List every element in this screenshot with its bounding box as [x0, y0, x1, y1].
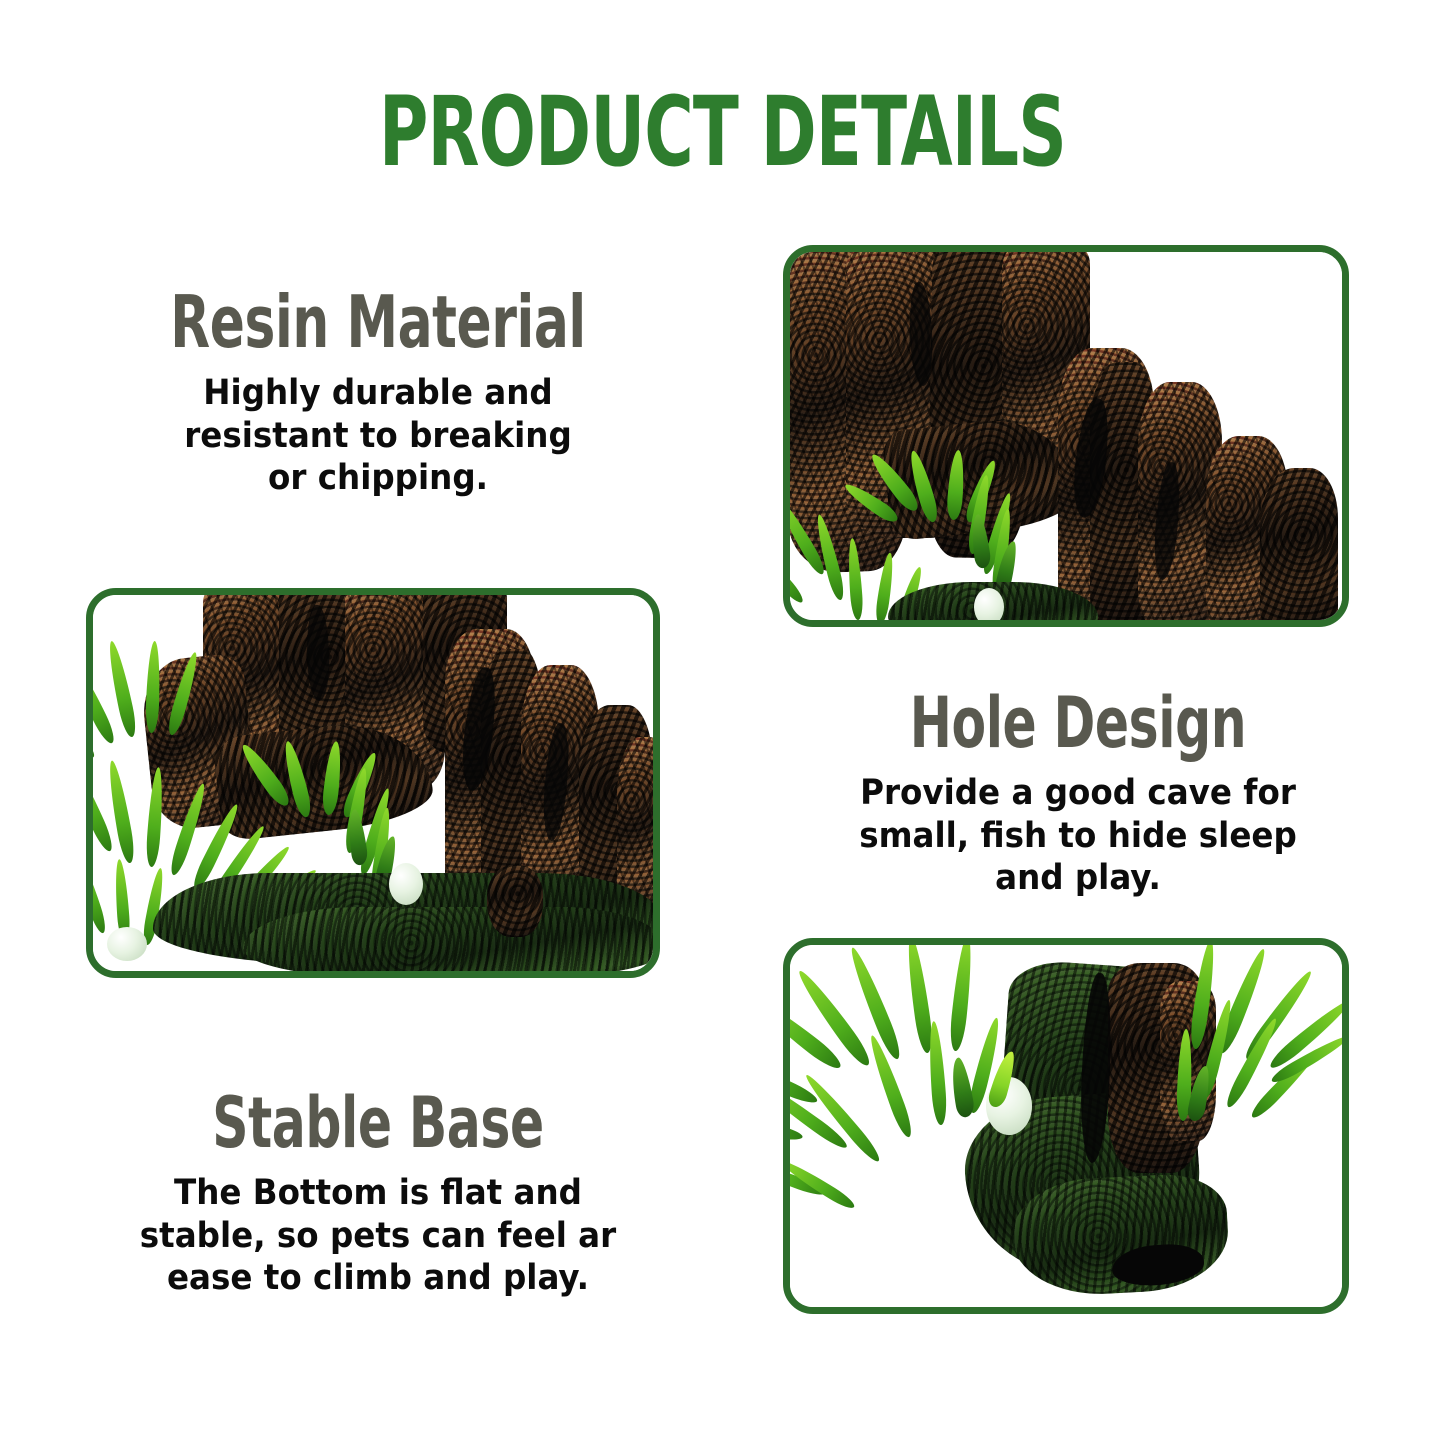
ornament-photo-resin-material — [93, 595, 653, 971]
page-title: PRODUCT DETAILS — [159, 84, 1286, 180]
feature-heading-hole-design: Hole Design — [862, 688, 1294, 758]
feature-body-line: or chipping. — [119, 457, 636, 500]
feature-body-hole-design: Provide a good cave for small, fish to h… — [827, 772, 1329, 900]
feature-body-line: stable, so pets can feel ar — [119, 1215, 636, 1258]
photo-panel-stable-base — [783, 938, 1349, 1314]
photo-panel-hole-design — [783, 245, 1349, 627]
ornament-photo-hole-design — [790, 252, 1342, 620]
feature-body-line: small, fish to hide sleep — [827, 815, 1329, 858]
feature-heading-resin-material: Resin Material — [156, 286, 601, 358]
photo-panel-resin-material — [86, 588, 660, 978]
feature-body-line: Highly durable and — [119, 372, 636, 415]
feature-body-line: The Bottom is flat and — [119, 1172, 636, 1215]
feature-body-line: ease to climb and play. — [119, 1257, 636, 1300]
feature-body-resin-material: Highly durable and resistant to breaking… — [119, 372, 636, 500]
feature-block-hole-design: Hole Design Provide a good cave for smal… — [808, 688, 1348, 900]
feature-body-line: resistant to breaking — [119, 415, 636, 458]
feature-body-line: Provide a good cave for — [827, 772, 1329, 815]
feature-heading-stable-base: Stable Base — [156, 1088, 601, 1158]
feature-block-stable-base: Stable Base The Bottom is flat and stabl… — [100, 1088, 656, 1300]
feature-body-line: and play. — [827, 857, 1329, 900]
ornament-photo-stable-base — [790, 945, 1342, 1307]
feature-body-stable-base: The Bottom is flat and stable, so pets c… — [119, 1172, 636, 1300]
feature-block-resin-material: Resin Material Highly durable and resist… — [100, 286, 656, 500]
